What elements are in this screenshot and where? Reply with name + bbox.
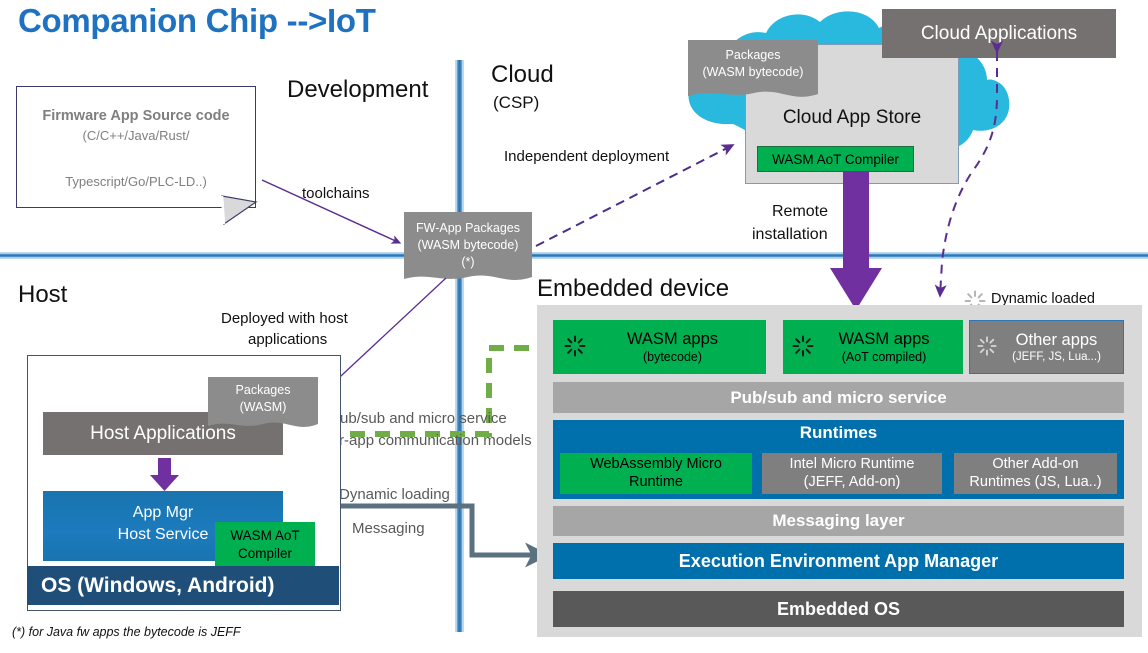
firmware-source-line1: (C/C++/Java/Rust/	[17, 127, 255, 145]
callout-wave-edge	[404, 269, 532, 285]
embedded-pubsub-band: Pub/sub and micro service	[553, 382, 1124, 413]
host-wasm-aot-compiler[interactable]: WASM AoT Compiler	[215, 522, 315, 567]
host-os-label: OS (Windows, Android)	[27, 574, 275, 598]
label-remote-installation-1: Remote	[772, 203, 828, 221]
embedded-os: Embedded OS	[553, 591, 1124, 627]
callout-fw-line3: (*)	[404, 254, 532, 271]
host-app-mgr-line1: App Mgr	[43, 502, 283, 524]
host-wasm-aot-l1: WASM AoT	[230, 527, 299, 545]
embedded-runtime-wamr-l2: Runtime	[590, 474, 722, 491]
embedded-app-wasm-bytecode-sub: (bytecode)	[627, 350, 718, 366]
embedded-app-wasm-aot-name: WASM apps	[838, 329, 929, 350]
embedded-messaging-layer: Messaging layer	[553, 506, 1124, 536]
embedded-runtimes-title: Runtimes	[553, 420, 1124, 443]
embedded-runtime-wamr-l1: WebAssembly Micro	[590, 456, 722, 473]
page-title: Companion Chip -->IoT	[18, 2, 376, 40]
horizontal-divider-right	[460, 252, 1148, 259]
heading-embedded-device: Embedded device	[537, 275, 729, 303]
embedded-app-wasm-aot[interactable]: WASM apps (AoT compiled)	[783, 320, 963, 374]
embedded-app-manager: Execution Environment App Manager	[553, 543, 1124, 579]
heading-development: Development	[287, 76, 428, 104]
embedded-pubsub-label: Pub/sub and micro service	[730, 388, 946, 408]
callout-cloud-packages-line1: Packages	[688, 47, 818, 64]
arrow-deployed-with-host	[327, 278, 446, 389]
embedded-app-wasm-bytecode[interactable]: WASM apps (bytecode)	[553, 320, 766, 374]
embedded-os-label: Embedded OS	[777, 599, 900, 620]
diagram-canvas: Companion Chip -->IoT Development Cloud …	[0, 0, 1148, 653]
vertical-divider	[455, 60, 464, 632]
label-deployed-1: Deployed with host	[221, 310, 348, 327]
firmware-callout-tail	[222, 196, 272, 236]
embedded-messaging-layer-label: Messaging layer	[772, 511, 904, 531]
callout-host-packages-line1: Packages	[208, 382, 318, 399]
heading-cloud-sub: (CSP)	[493, 93, 539, 113]
embedded-app-other-name: Other apps	[1012, 330, 1101, 351]
embedded-runtime-intel-l1: Intel Micro Runtime	[790, 456, 915, 473]
callout-fw-app-packages: FW-App Packages (WASM bytecode) (*)	[404, 212, 532, 272]
spinner-icon	[563, 334, 587, 358]
arrow-remote-installation	[830, 172, 882, 314]
firmware-source-line2: Typescript/Go/PLC-LD..)	[17, 173, 255, 191]
footnote: (*) for Java fw apps the bytecode is JEF…	[12, 625, 241, 639]
cloud-app-store-title: Cloud App Store	[746, 107, 958, 129]
host-wasm-aot-l2: Compiler	[230, 545, 299, 563]
cloud-applications-box: Cloud Applications	[882, 9, 1116, 58]
callout-wave-edge	[208, 416, 318, 432]
cloud-wasm-aot-compiler-label: WASM AoT Compiler	[772, 152, 899, 167]
label-independent-deployment: Independent deployment	[504, 148, 669, 165]
heading-cloud: Cloud	[491, 61, 554, 89]
callout-host-packages: Packages (WASM)	[208, 377, 318, 419]
spinner-icon	[976, 335, 998, 357]
host-os-box: OS (Windows, Android)	[27, 566, 339, 605]
embedded-runtime-intel-l2: (JEFF, Add-on)	[790, 474, 915, 491]
embedded-runtime-wamr[interactable]: WebAssembly Micro Runtime	[560, 453, 752, 494]
embedded-runtime-other-l1: Other Add-on	[969, 456, 1101, 473]
embedded-app-manager-label: Execution Environment App Manager	[679, 551, 998, 572]
callout-cloud-packages-line2: (WASM bytecode)	[688, 64, 818, 81]
cloud-applications-label: Cloud Applications	[921, 23, 1077, 45]
arrow-host-apps-to-appmgr	[150, 458, 180, 492]
embedded-app-other-sub: (JEFF, JS, Lua...)	[1012, 350, 1101, 364]
callout-fw-line1: FW-App Packages	[404, 220, 532, 237]
label-interapp: Inter-app communication models	[314, 432, 532, 449]
heading-host: Host	[18, 281, 67, 309]
embedded-app-other[interactable]: Other apps (JEFF, JS, Lua...)	[969, 320, 1124, 374]
embedded-runtime-intel[interactable]: Intel Micro Runtime (JEFF, Add-on)	[762, 453, 942, 494]
label-messaging: Messaging	[352, 520, 425, 537]
label-deployed-2: applications	[248, 331, 327, 348]
label-remote-installation-2: installation	[752, 226, 828, 244]
embedded-app-wasm-bytecode-name: WASM apps	[627, 329, 718, 350]
cloud-wasm-aot-compiler: WASM AoT Compiler	[757, 146, 914, 172]
embedded-runtime-other[interactable]: Other Add-on Runtimes (JS, Lua..)	[954, 453, 1117, 494]
firmware-source-box: Firmware App Source code (C/C++/Java/Rus…	[16, 86, 256, 208]
callout-fw-line2: (WASM bytecode)	[404, 237, 532, 254]
callout-host-packages-line2: (WASM)	[208, 399, 318, 416]
label-toolchains: toolchains	[302, 185, 370, 202]
horizontal-divider-left	[0, 252, 460, 259]
callout-cloud-packages: Packages (WASM bytecode)	[688, 40, 818, 88]
firmware-source-title: Firmware App Source code	[17, 107, 255, 127]
spinner-icon	[791, 334, 815, 358]
callout-wave-edge	[688, 85, 818, 101]
label-pubsub: Pub/sub and micro service	[330, 410, 507, 427]
label-dynamic-loading: Dynamic loading	[339, 486, 450, 503]
embedded-app-wasm-aot-sub: (AoT compiled)	[838, 350, 929, 366]
embedded-runtime-other-l2: Runtimes (JS, Lua..)	[969, 474, 1101, 491]
